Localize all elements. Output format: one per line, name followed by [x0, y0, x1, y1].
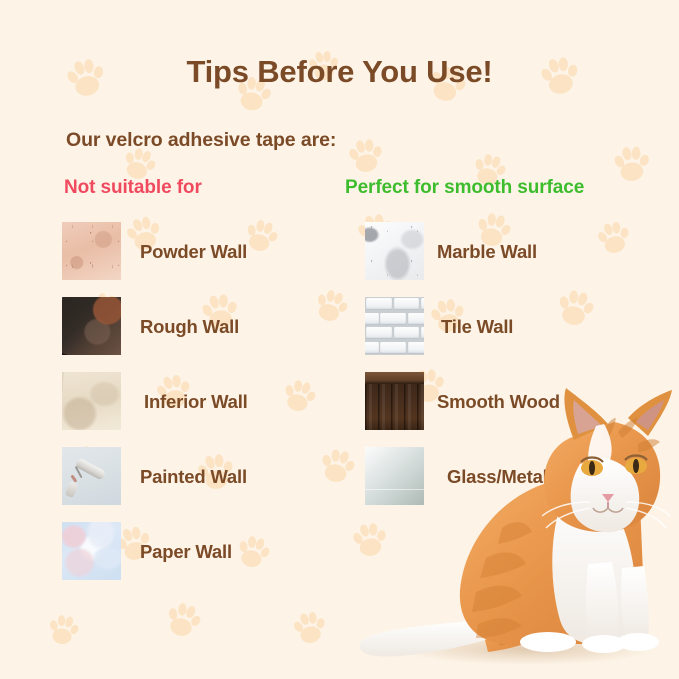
swatch-paper-wall [62, 522, 121, 580]
white-marble-texture [365, 222, 424, 280]
tile-brick [394, 327, 420, 339]
paw-print-icon [307, 281, 355, 329]
list-item-label: Powder Wall [140, 241, 247, 263]
column-heading-perfect-for: Perfect for smooth surface [345, 177, 584, 199]
list-item-label: Painted Wall [140, 466, 247, 488]
tile-row [365, 297, 424, 312]
page-title: Tips Before You Use! [0, 54, 679, 90]
paw-print-icon [550, 282, 601, 333]
pastel-wallpaper-texture [62, 522, 121, 580]
white-subway-tile-texture [365, 297, 424, 355]
column-heading-not-suitable: Not suitable for [64, 177, 202, 199]
page-subtitle: Our velcro adhesive tape are: [66, 129, 336, 152]
tile-row [365, 326, 424, 341]
cracked-plaster-texture [62, 222, 121, 280]
dark-distressed-texture [62, 297, 121, 355]
paw-print-icon [230, 528, 276, 574]
tile-brick [366, 327, 392, 339]
paw-print-icon [276, 372, 322, 418]
paint-roller-icon [74, 458, 106, 481]
swatch-painted-wall [62, 447, 121, 505]
tile-brick [365, 313, 379, 325]
list-item-label: Marble Wall [437, 241, 537, 263]
tile-brick [366, 298, 392, 310]
swatch-rough-wall [62, 297, 121, 355]
paw-print-icon [42, 608, 84, 650]
cat-photo [352, 352, 679, 679]
paw-print-icon [341, 131, 389, 179]
paw-print-icon [607, 139, 655, 187]
tile-brick [421, 298, 424, 310]
swatch-inferior-wall [62, 372, 121, 430]
tile-brick [408, 313, 424, 325]
paw-print-icon [589, 213, 636, 260]
paw-print-icon [158, 594, 208, 644]
tile-row [365, 312, 424, 327]
tile-brick [421, 327, 424, 339]
list-item-label: Rough Wall [140, 316, 239, 338]
paw-print-icon [286, 604, 332, 650]
tile-brick [394, 298, 420, 310]
swatch-powder-wall [62, 222, 121, 280]
swatch-marble-wall [365, 222, 424, 280]
beige-worn-texture [62, 372, 121, 430]
infographic-canvas: Tips Before You Use! Our velcro adhesive… [0, 0, 679, 679]
list-item-label: Paper Wall [140, 541, 232, 563]
list-item-label: Inferior Wall [144, 391, 248, 413]
tile-brick [380, 313, 406, 325]
swatch-tile-wall [365, 297, 424, 355]
paint-roller-photo [62, 447, 121, 505]
list-item-label: Tile Wall [441, 316, 513, 338]
paint-roller-handle [64, 481, 78, 498]
